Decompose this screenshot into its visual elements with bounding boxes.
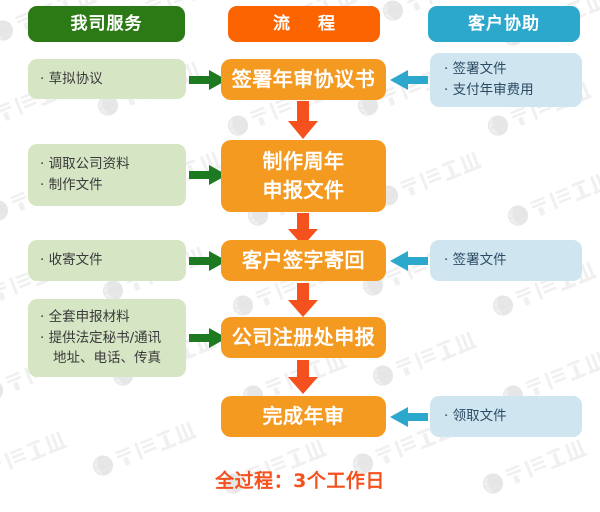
process-box-row-5: 完成年审	[221, 396, 386, 437]
client-line: · 领取文件	[444, 406, 572, 427]
arrow-down-orange-3	[288, 283, 318, 317]
process-line: 完成年审	[263, 402, 345, 431]
header-process: 流 程	[228, 6, 380, 42]
service-box-row-3: · 收寄文件	[28, 240, 186, 281]
client-line: · 支付年审费用	[444, 80, 572, 101]
process-box-row-4: 公司注册处申报	[221, 317, 386, 358]
client-box-row-5: · 领取文件	[430, 396, 582, 437]
service-line: · 调取公司资料	[40, 154, 176, 175]
service-box-row-4: · 全套申报材料 · 提供法定秘书/通讯 地址、电话、传真	[28, 299, 186, 377]
process-box-row-2: 制作周年 申报文件	[221, 140, 386, 212]
header-process-label: 流 程	[262, 16, 346, 33]
footer-duration-note: 全过程：3个工作日	[0, 466, 600, 493]
header-service-label: 我司服务	[71, 16, 143, 33]
process-line: 签署年审协议书	[232, 65, 376, 94]
arrow-down-orange-4	[288, 360, 318, 394]
process-line: 公司注册处申报	[232, 323, 376, 352]
process-box-row-3: 客户签字寄回	[221, 240, 386, 281]
arrow-left-blue-row-5	[390, 407, 428, 427]
header-client: 客户协助	[428, 6, 580, 42]
process-line: 客户签字寄回	[242, 246, 365, 275]
header-service: 我司服务	[28, 6, 185, 42]
header-client-label: 客户协助	[468, 16, 540, 33]
flowchart-stage: 我司服务 流 程 客户协助 · 草拟协议 签署年审协议书 · 签署文件 · 支付…	[0, 0, 600, 512]
service-line: · 制作文件	[40, 175, 176, 196]
service-line: · 收寄文件	[40, 250, 176, 271]
process-box-row-1: 签署年审协议书	[221, 59, 386, 100]
client-line: · 签署文件	[444, 59, 572, 80]
service-box-row-2: · 调取公司资料 · 制作文件	[28, 144, 186, 206]
service-line: · 全套申报材料	[40, 307, 176, 328]
service-line: · 草拟协议	[40, 69, 176, 90]
service-box-row-1: · 草拟协议	[28, 59, 186, 99]
service-line: 地址、电话、传真	[40, 348, 176, 369]
service-line: · 提供法定秘书/通讯	[40, 328, 176, 349]
arrow-down-orange-1	[288, 101, 318, 139]
client-line: · 签署文件	[444, 250, 572, 271]
process-line: 制作周年	[263, 147, 345, 176]
arrow-left-blue-row-1	[390, 70, 428, 90]
client-box-row-3: · 签署文件	[430, 240, 582, 281]
process-line: 申报文件	[263, 176, 345, 205]
client-box-row-1: · 签署文件 · 支付年审费用	[430, 53, 582, 107]
arrow-left-blue-row-3	[390, 251, 428, 271]
